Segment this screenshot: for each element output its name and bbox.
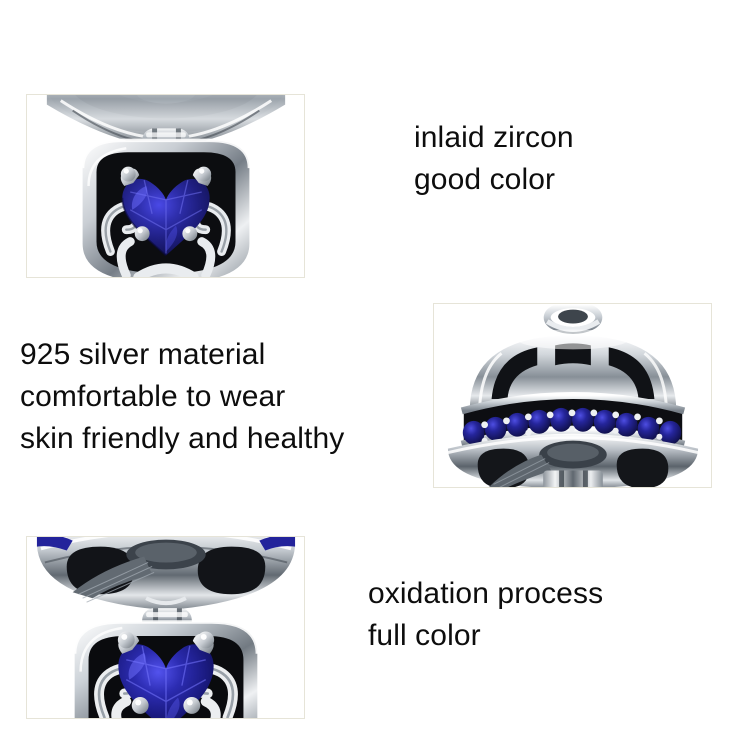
heart-zircon-artwork (27, 95, 304, 277)
photo-stage (434, 304, 711, 487)
pave-band-artwork (434, 304, 711, 487)
product-photo-oxidation[interactable] (26, 536, 305, 719)
product-feature-infographic: inlaid zircon good color (0, 0, 750, 750)
caption-line: good color (414, 159, 574, 201)
caption-line: skin friendly and healthy (20, 418, 344, 460)
oxidation-artwork (27, 537, 304, 718)
product-photo-inlaid-zircon[interactable] (26, 94, 305, 278)
caption-line: oxidation process (368, 573, 603, 615)
caption-inlaid-zircon: inlaid zircon good color (414, 117, 574, 201)
photo-stage (27, 537, 304, 718)
caption-line: 925 silver material (20, 334, 344, 376)
photo-stage (27, 95, 304, 277)
caption-line: full color (368, 615, 603, 657)
caption-line: comfortable to wear (20, 376, 344, 418)
caption-oxidation: oxidation process full color (368, 573, 603, 657)
caption-silver-material: 925 silver material comfortable to wear … (20, 334, 344, 460)
product-photo-pave-band[interactable] (433, 303, 712, 488)
caption-line: inlaid zircon (414, 117, 574, 159)
